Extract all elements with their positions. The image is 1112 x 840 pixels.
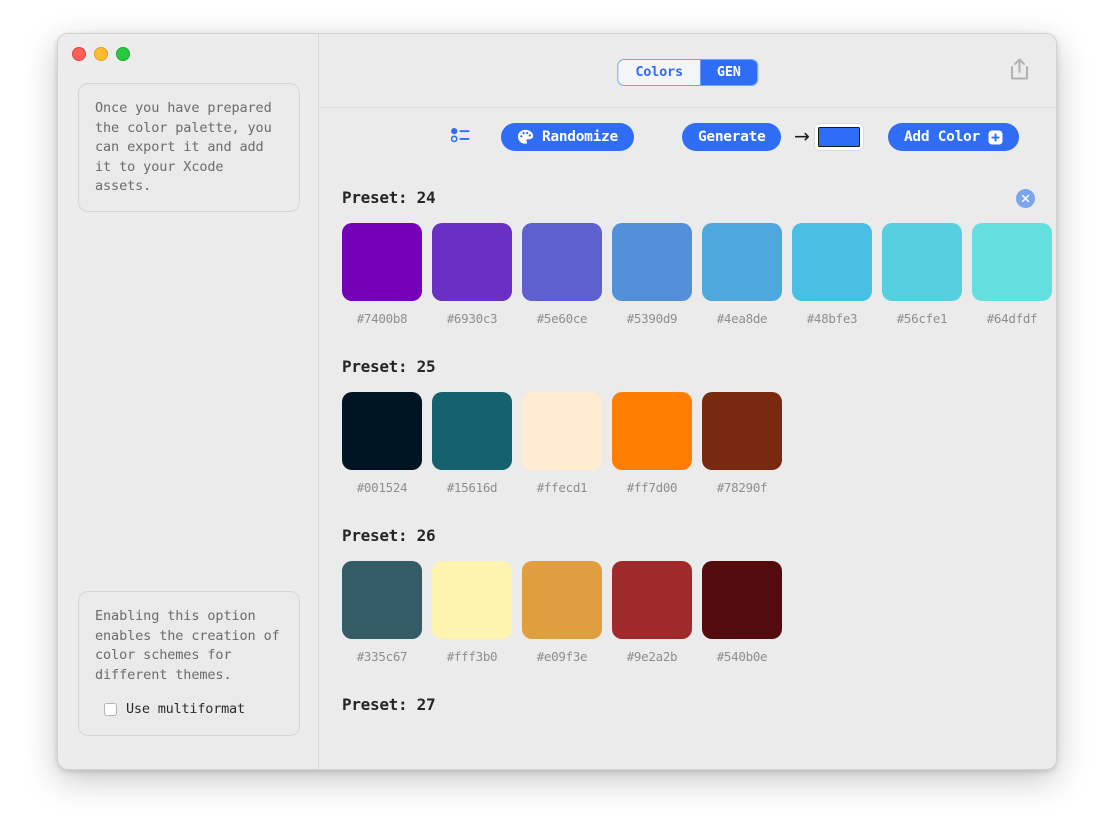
- color-hex-label: #5e60ce: [522, 311, 602, 326]
- color-swatch[interactable]: [342, 223, 422, 301]
- share-icon: [1009, 57, 1030, 81]
- use-multiformat-row[interactable]: Use multiformat: [95, 701, 283, 717]
- color-swatch[interactable]: [612, 223, 692, 301]
- swatch-cell: #7400b8: [342, 223, 422, 326]
- sidebar: Once you have prepared the color palette…: [58, 34, 319, 769]
- color-hex-label: #15616d: [432, 480, 512, 495]
- list-bullet-icon: [451, 127, 470, 144]
- color-hex-label: #7400b8: [342, 311, 422, 326]
- tab-gen[interactable]: GEN: [700, 60, 758, 85]
- swatch-cell: #e09f3e: [522, 561, 602, 664]
- mode-segmented-control[interactable]: Colors GEN: [617, 59, 758, 86]
- color-swatch[interactable]: [522, 561, 602, 639]
- swatch-cell: #5390d9: [612, 223, 692, 326]
- swatch-cell: #001524: [342, 392, 422, 495]
- color-hex-label: #e09f3e: [522, 649, 602, 664]
- swatch-cell: #4ea8de: [702, 223, 782, 326]
- swatch-row: #001524#15616d#ffecd1#ff7d00#78290f: [342, 392, 1056, 495]
- minimize-window-button[interactable]: [94, 47, 108, 61]
- close-preset-button[interactable]: [1016, 189, 1035, 208]
- share-button[interactable]: [1004, 53, 1034, 85]
- color-hex-label: #64dfdf: [972, 311, 1052, 326]
- color-hex-label: #9e2a2b: [612, 649, 692, 664]
- color-hex-label: #56cfe1: [882, 311, 962, 326]
- color-hex-label: #5390d9: [612, 311, 692, 326]
- swatch-cell: #540b0e: [702, 561, 782, 664]
- swatch-cell: #78290f: [702, 392, 782, 495]
- preset-block: Preset: 24#7400b8#6930c3#5e60ce#5390d9#4…: [320, 188, 1056, 326]
- preset-title: Preset: 27: [342, 695, 1056, 714]
- color-hex-label: #335c67: [342, 649, 422, 664]
- color-swatch[interactable]: [702, 561, 782, 639]
- close-window-button[interactable]: [72, 47, 86, 61]
- color-hex-label: #4ea8de: [702, 311, 782, 326]
- add-color-label: Add Color: [904, 129, 980, 145]
- swatch-cell: #335c67: [342, 561, 422, 664]
- swatch-cell: #5e60ce: [522, 223, 602, 326]
- generate-color-swatch: [818, 127, 860, 147]
- swatch-cell: #64dfdf: [972, 223, 1052, 326]
- export-info-text: Once you have prepared the color palette…: [95, 99, 283, 197]
- preset-block: Preset: 26#335c67#fff3b0#e09f3e#9e2a2b#5…: [320, 526, 1056, 664]
- color-swatch[interactable]: [882, 223, 962, 301]
- color-hex-label: #78290f: [702, 480, 782, 495]
- color-swatch[interactable]: [432, 392, 512, 470]
- preset-block: Preset: 25#001524#15616d#ffecd1#ff7d00#7…: [320, 357, 1056, 495]
- color-swatch[interactable]: [792, 223, 872, 301]
- color-hex-label: #ffecd1: [522, 480, 602, 495]
- zoom-window-button[interactable]: [116, 47, 130, 61]
- multiformat-info-text: Enabling this option enables the creatio…: [95, 607, 283, 685]
- preset-block: Preset: 27: [320, 695, 1056, 714]
- generate-color-well[interactable]: [815, 124, 863, 150]
- window-traffic-lights: [72, 47, 130, 61]
- color-swatch[interactable]: [522, 392, 602, 470]
- swatch-row: #335c67#fff3b0#e09f3e#9e2a2b#540b0e: [342, 561, 1056, 664]
- randomize-label: Randomize: [542, 129, 618, 145]
- color-swatch[interactable]: [972, 223, 1052, 301]
- list-view-button[interactable]: [451, 127, 470, 148]
- action-bar: Randomize Generate → Add Color: [320, 108, 1056, 166]
- swatch-cell: #15616d: [432, 392, 512, 495]
- swatch-cell: #9e2a2b: [612, 561, 692, 664]
- toolbar: Colors GEN: [320, 34, 1056, 108]
- main-panel: Colors GEN: [320, 34, 1056, 769]
- swatch-cell: #ffecd1: [522, 392, 602, 495]
- preset-title: Preset: 25: [342, 357, 1056, 376]
- color-hex-label: #540b0e: [702, 649, 782, 664]
- app-window: Once you have prepared the color palette…: [57, 33, 1057, 770]
- generate-button[interactable]: Generate: [682, 123, 781, 151]
- color-hex-label: #fff3b0: [432, 649, 512, 664]
- multiformat-info-card: Enabling this option enables the creatio…: [78, 591, 300, 736]
- swatch-cell: #fff3b0: [432, 561, 512, 664]
- color-hex-label: #48bfe3: [792, 311, 872, 326]
- preset-list-scroll-area[interactable]: Preset: 24#7400b8#6930c3#5e60ce#5390d9#4…: [320, 166, 1056, 770]
- color-swatch[interactable]: [432, 223, 512, 301]
- tab-colors[interactable]: Colors: [618, 60, 700, 85]
- swatch-cell: #6930c3: [432, 223, 512, 326]
- swatch-row: #7400b8#6930c3#5e60ce#5390d9#4ea8de#48bf…: [342, 223, 1056, 326]
- generate-label: Generate: [698, 129, 765, 145]
- color-hex-label: #ff7d00: [612, 480, 692, 495]
- color-hex-label: #001524: [342, 480, 422, 495]
- desktop-background: Once you have prepared the color palette…: [0, 0, 1112, 840]
- palette-icon: [517, 129, 534, 145]
- randomize-button[interactable]: Randomize: [501, 123, 634, 151]
- swatch-cell: #48bfe3: [792, 223, 872, 326]
- plus-square-icon: [988, 130, 1003, 145]
- color-swatch[interactable]: [612, 392, 692, 470]
- use-multiformat-label: Use multiformat: [126, 701, 245, 717]
- color-swatch[interactable]: [432, 561, 512, 639]
- color-swatch[interactable]: [612, 561, 692, 639]
- add-color-button[interactable]: Add Color: [888, 123, 1019, 151]
- use-multiformat-checkbox[interactable]: [104, 703, 117, 716]
- color-hex-label: #6930c3: [432, 311, 512, 326]
- arrow-right-icon: →: [794, 128, 810, 147]
- color-swatch[interactable]: [342, 392, 422, 470]
- export-info-card: Once you have prepared the color palette…: [78, 83, 300, 212]
- preset-title: Preset: 24: [342, 188, 1056, 207]
- color-swatch[interactable]: [342, 561, 422, 639]
- close-circle-icon: [1020, 193, 1031, 204]
- color-swatch[interactable]: [702, 223, 782, 301]
- color-swatch[interactable]: [702, 392, 782, 470]
- swatch-cell: #56cfe1: [882, 223, 962, 326]
- swatch-cell: #ff7d00: [612, 392, 692, 495]
- color-swatch[interactable]: [522, 223, 602, 301]
- preset-title: Preset: 26: [342, 526, 1056, 545]
